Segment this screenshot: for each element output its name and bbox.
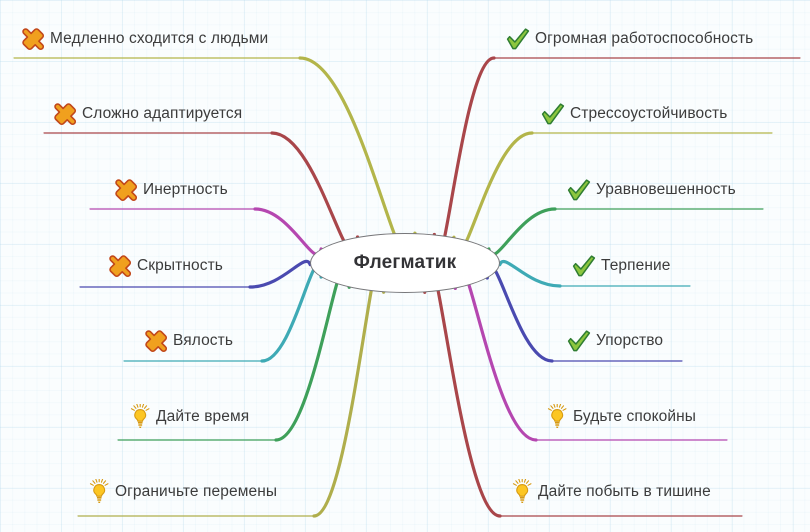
branch-connector-balance <box>489 209 763 255</box>
branch-node-persistence[interactable]: Упорство <box>566 328 663 354</box>
branch-node-stress-resistance[interactable]: Стрессоустойчивость <box>540 101 727 127</box>
branch-node-give-time[interactable]: Дайте время <box>128 404 249 430</box>
branch-curve-give-time <box>276 266 349 440</box>
branch-curve-balance <box>489 209 555 255</box>
branch-label-be-calm: Будьте спокойны <box>573 409 696 425</box>
bulb-icon <box>128 404 152 430</box>
branch-label-huge-work-capacity: Огромная работоспособность <box>535 31 753 47</box>
branch-connector-slow-to-connect <box>14 58 415 258</box>
center-node[interactable]: Флегматик <box>310 233 500 293</box>
branch-curve-secrecy <box>250 261 310 287</box>
branch-curve-allow-silence <box>425 261 500 516</box>
bulb-icon <box>87 479 111 505</box>
branch-curve-huge-work-capacity <box>434 58 494 259</box>
branch-curve-limit-changes <box>314 261 384 516</box>
branch-label-hard-to-adapt: Сложно адаптируется <box>82 106 242 122</box>
check-icon <box>566 177 592 203</box>
branch-node-balance[interactable]: Уравновешенность <box>566 177 736 203</box>
branch-curve-hard-to-adapt <box>272 133 358 252</box>
branch-label-inertness: Инертность <box>143 182 228 198</box>
branch-connector-inertness <box>90 209 321 255</box>
check-icon <box>540 101 566 127</box>
branch-curve-slow-to-connect <box>300 58 415 258</box>
branch-label-balance: Уравновешенность <box>596 182 736 198</box>
check-icon <box>505 26 531 52</box>
branch-label-sluggishness: Вялость <box>173 333 233 349</box>
branch-label-limit-changes: Ограничьте перемены <box>115 484 277 500</box>
bulb-icon <box>545 404 569 430</box>
cross-icon <box>52 101 78 127</box>
mindmap-canvas: Медленно сходится с людьмиСложно адаптир… <box>0 0 810 532</box>
cross-icon <box>143 328 169 354</box>
branch-node-slow-to-connect[interactable]: Медленно сходится с людьми <box>20 26 268 52</box>
branch-label-allow-silence: Дайте побыть в тишине <box>538 484 711 500</box>
branch-curve-persistence <box>487 266 552 361</box>
branch-connector-allow-silence <box>425 261 742 516</box>
branch-connector-limit-changes <box>78 261 384 516</box>
branch-node-sluggishness[interactable]: Вялость <box>143 328 233 354</box>
branch-curve-be-calm <box>455 267 536 440</box>
branch-node-patience[interactable]: Терпение <box>571 253 671 279</box>
check-icon <box>571 253 597 279</box>
bulb-icon <box>510 479 534 505</box>
cross-icon <box>107 253 133 279</box>
branch-label-stress-resistance: Стрессоустойчивость <box>570 106 727 122</box>
branch-node-limit-changes[interactable]: Ограничьте перемены <box>87 479 277 505</box>
branch-curve-sluggishness <box>262 265 321 361</box>
check-icon <box>566 328 592 354</box>
branch-node-inertness[interactable]: Инертность <box>113 177 228 203</box>
branch-label-persistence: Упорство <box>596 333 663 349</box>
branch-node-hard-to-adapt[interactable]: Сложно адаптируется <box>52 101 242 127</box>
branch-label-patience: Терпение <box>601 258 671 274</box>
branch-node-secrecy[interactable]: Скрытность <box>107 253 223 279</box>
branch-label-secrecy: Скрытность <box>137 258 223 274</box>
branch-curve-stress-resistance <box>454 133 532 252</box>
branch-node-allow-silence[interactable]: Дайте побыть в тишине <box>510 479 711 505</box>
branch-node-be-calm[interactable]: Будьте спокойны <box>545 404 696 430</box>
center-node-label: Флегматик <box>354 252 457 274</box>
branch-label-give-time: Дайте время <box>156 409 249 425</box>
branch-node-huge-work-capacity[interactable]: Огромная работоспособность <box>505 26 753 52</box>
branch-connector-huge-work-capacity <box>434 58 800 259</box>
cross-icon <box>113 177 139 203</box>
branch-curve-inertness <box>255 209 321 255</box>
branch-curve-patience <box>500 262 560 286</box>
cross-icon <box>20 26 46 52</box>
branch-label-slow-to-connect: Медленно сходится с людьми <box>50 31 268 47</box>
